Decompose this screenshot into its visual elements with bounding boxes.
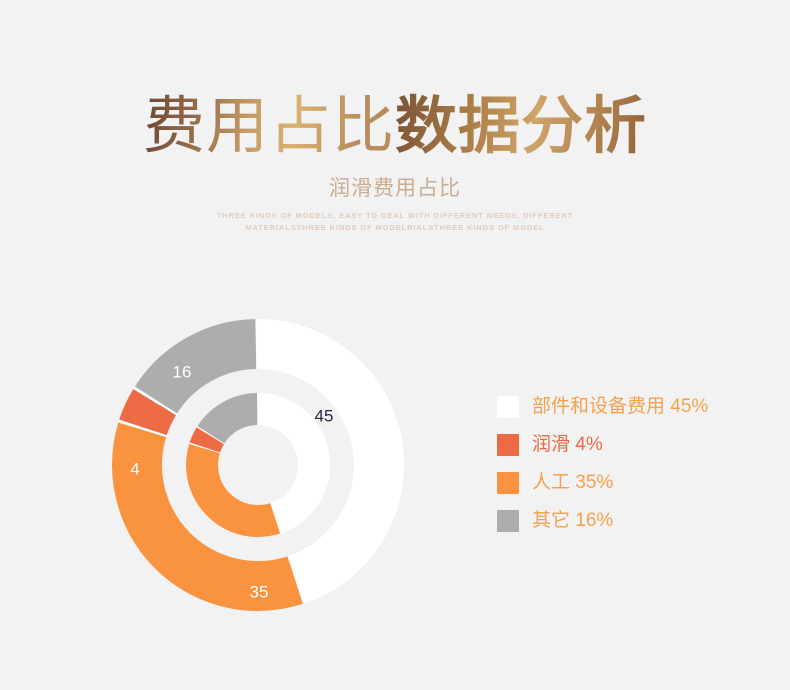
- chart-legend: 部件和设备费用 45% 润滑 4% 人工 35% 其它 16%: [497, 388, 757, 540]
- page-title-bold: 数据分析: [395, 92, 647, 161]
- header: 费用占比数据分析 润滑费用占比 THREE KINDS OF MODELS, E…: [0, 0, 790, 234]
- page-subtitle: 润滑费用占比: [0, 162, 790, 202]
- legend-label-parts: 部件和设备费用 45%: [532, 396, 708, 418]
- page-title: 费用占比数据分析: [0, 0, 790, 162]
- legend-label-lubrication: 润滑 4%: [532, 434, 603, 456]
- slice-label-labor: 35: [250, 582, 269, 601]
- legend-swatch-other: [497, 510, 519, 532]
- legend-label-labor: 人工 35%: [532, 472, 613, 494]
- slice-label-other: 16: [173, 362, 192, 381]
- donut-chart: 45 16 4 35: [100, 295, 430, 625]
- legend-label-other: 其它 16%: [532, 510, 613, 532]
- legend-item-other[interactable]: 其它 16%: [497, 502, 757, 540]
- legend-swatch-parts: [497, 396, 519, 418]
- slice-label-parts: 45: [315, 406, 334, 425]
- slice-label-lubrication: 4: [130, 459, 139, 478]
- legend-item-lubrication[interactable]: 润滑 4%: [497, 426, 757, 464]
- page-description: THREE KINDS OF MODELS, EASY TO DEAL WITH…: [175, 202, 615, 234]
- legend-item-parts[interactable]: 部件和设备费用 45%: [497, 388, 757, 426]
- page-root: 费用占比数据分析 润滑费用占比 THREE KINDS OF MODELS, E…: [0, 0, 790, 690]
- legend-item-labor[interactable]: 人工 35%: [497, 464, 757, 502]
- legend-swatch-labor: [497, 472, 519, 494]
- page-title-light: 费用占比: [143, 92, 395, 161]
- donut-chart-svg: 45 16 4 35: [100, 295, 430, 625]
- legend-swatch-lubrication: [497, 434, 519, 456]
